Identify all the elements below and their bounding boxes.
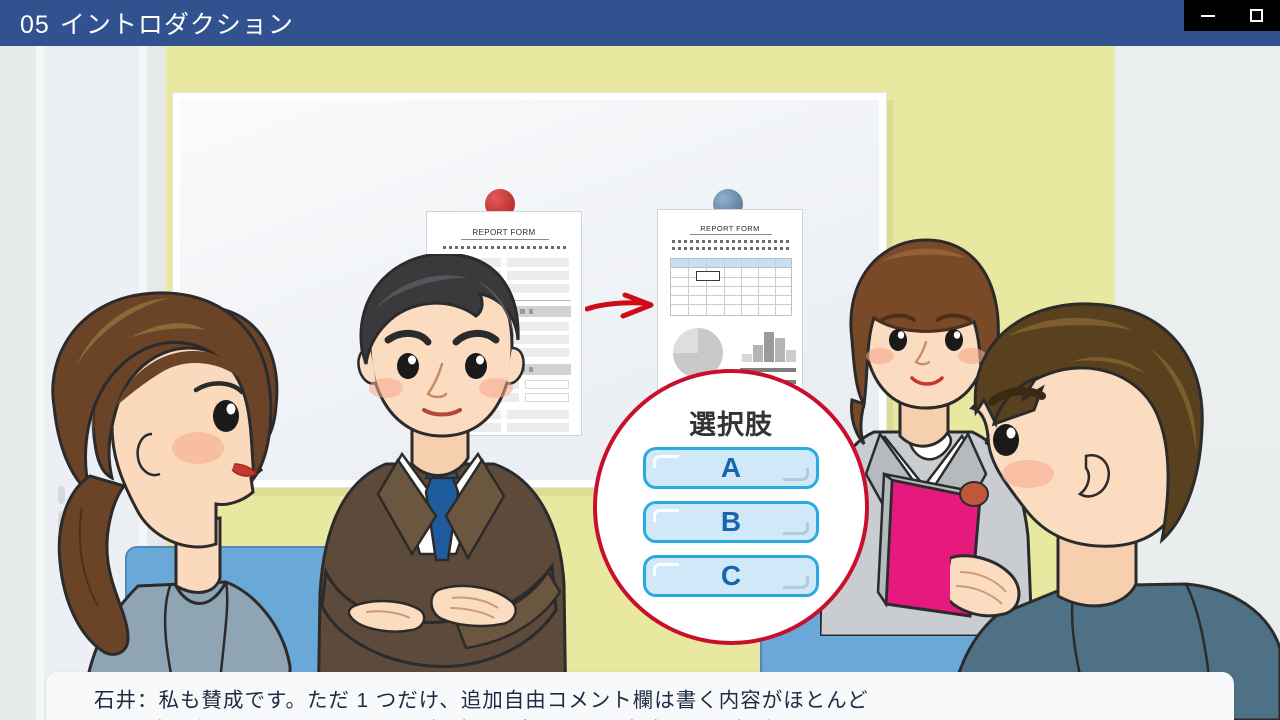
title-underline: [461, 239, 549, 240]
bar: [742, 354, 752, 362]
document-before-title: REPORT FORM: [427, 228, 581, 237]
table-gridline: [758, 259, 759, 315]
speech-bubble: 選択肢 A B C: [593, 369, 869, 645]
minimize-button[interactable]: [1192, 0, 1224, 31]
bar-chart: [742, 330, 794, 362]
choice-highlight: [653, 563, 679, 576]
table-gridline: [741, 259, 742, 315]
scene-illustration: REPORT FORM: [0, 46, 1280, 720]
choice-label: C: [721, 560, 741, 592]
speech-bubble-heading: 選択肢: [597, 403, 865, 442]
table-gridline: [671, 295, 791, 296]
minimize-icon: [1201, 15, 1215, 17]
choice-label: A: [721, 452, 741, 484]
page-title: 05イントロダクション: [20, 5, 294, 41]
red-arrow-icon: [585, 289, 657, 325]
window-controls: [1184, 0, 1280, 31]
report-table: [670, 258, 792, 316]
dotted-line: [672, 240, 790, 243]
bar: [764, 332, 774, 362]
table-gridline: [775, 259, 776, 315]
character-woman-ponytail: [20, 286, 320, 720]
table-gridline: [724, 259, 725, 315]
character-man-speaking: [950, 296, 1280, 720]
page-title-label: イントロダクション: [60, 11, 294, 39]
table-highlighted-cell: [696, 271, 720, 281]
document-after-title: REPORT FORM: [658, 224, 802, 233]
choice-shadow: [783, 468, 809, 481]
dotted-line: [672, 247, 790, 250]
maximize-icon: [1250, 9, 1263, 22]
choice-highlight: [653, 455, 679, 468]
bar: [775, 338, 785, 362]
maximize-button[interactable]: [1240, 0, 1272, 31]
choice-shadow: [783, 576, 809, 589]
choice-option-a[interactable]: A: [643, 447, 819, 489]
choice-option-c[interactable]: C: [643, 555, 819, 597]
choice-option-b[interactable]: B: [643, 501, 819, 543]
choice-highlight: [653, 509, 679, 522]
choice-label: B: [721, 506, 741, 538]
choice-shadow: [783, 522, 809, 535]
table-header-row: [671, 259, 791, 268]
table-gridline: [671, 286, 791, 287]
title-bar: 05イントロダクション: [0, 0, 1280, 46]
caption-line-1: 石井：私も賛成です。ただ 1 つだけ、追加自由コメント欄は書く内容がほとんど: [94, 686, 1214, 716]
table-gridline: [688, 259, 689, 315]
caption-line-2: 定型化されていますから、選択肢を用意して選ぶ方式にした方がいいかもしれませんね。: [94, 716, 1214, 720]
caption-box: 石井：私も賛成です。ただ 1 つだけ、追加自由コメント欄は書く内容がほとんど 定…: [46, 672, 1234, 720]
table-gridline: [706, 259, 707, 315]
title-underline: [690, 234, 772, 235]
page-title-number: 05: [20, 11, 50, 39]
table-gridline: [671, 277, 791, 278]
slide-stage: REPORT FORM: [0, 0, 1280, 720]
bar: [786, 350, 796, 362]
character-man-suit: [316, 254, 586, 720]
table-gridline: [671, 304, 791, 305]
choice-list: A B C: [643, 447, 819, 609]
bar: [753, 345, 763, 362]
dotted-line: [443, 246, 567, 249]
